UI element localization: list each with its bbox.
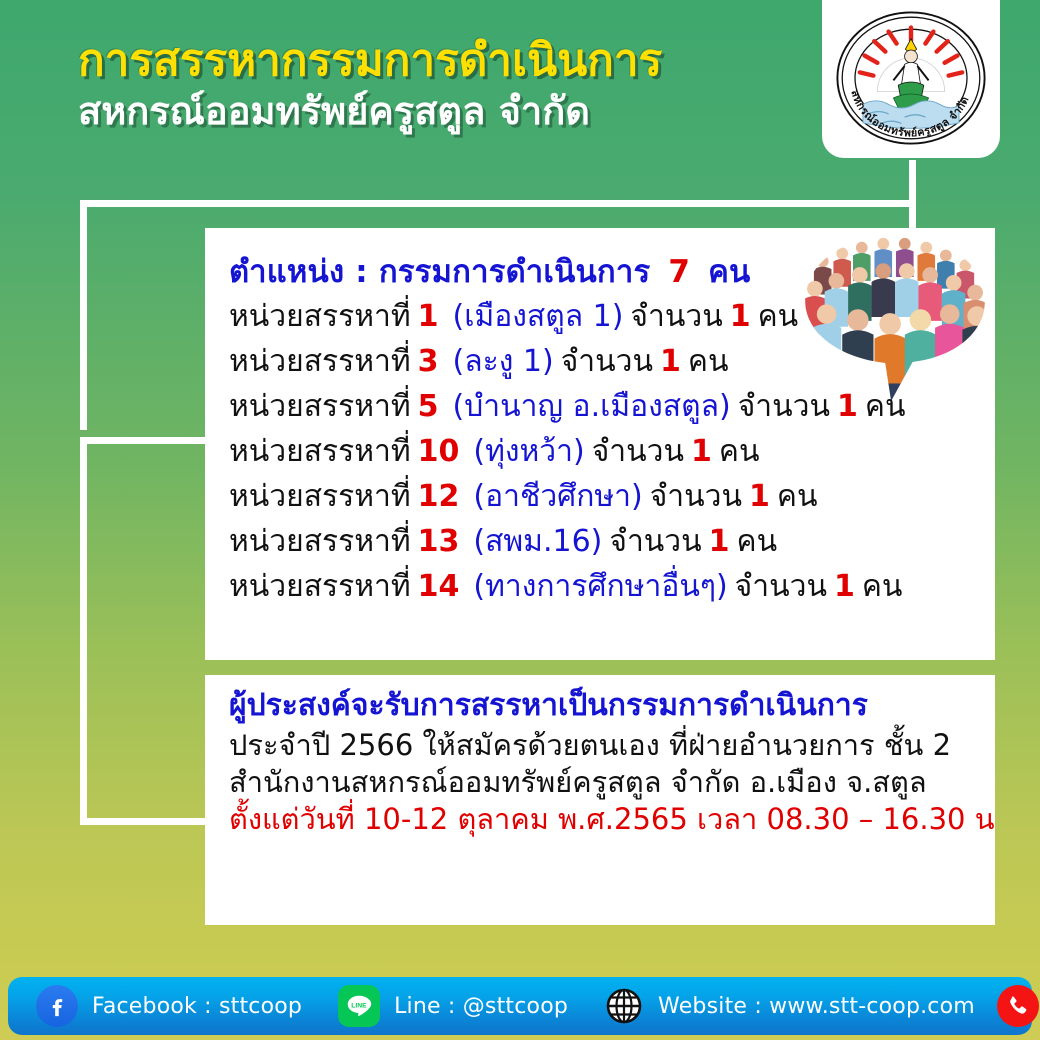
unit-prefix: หน่วยสรรหาที่ <box>229 389 411 424</box>
unit-amount-label: จำนวน <box>650 479 742 514</box>
unit-count: 1 <box>691 434 712 469</box>
application-card: ผู้ประสงค์จะรับการสรรหาเป็นกรรมการดำเนิน… <box>205 675 995 925</box>
positions-heading-label: ตำแหน่ง : กรรมการดำเนินการ <box>229 254 650 290</box>
globe-icon <box>604 986 644 1026</box>
unit-person-label: คน <box>862 569 903 604</box>
unit-row: หน่วยสรรหาที่1(เมืองสตูล 1)จำนวน1คน <box>229 302 985 332</box>
unit-count: 1 <box>660 344 681 379</box>
unit-prefix: หน่วยสรรหาที่ <box>229 479 411 514</box>
unit-person-label: คน <box>777 479 818 514</box>
unit-row: หน่วยสรรหาที่3(ละงู 1)จำนวน1คน <box>229 347 985 377</box>
unit-area: (ละงู 1) <box>453 344 554 379</box>
application-text: ผู้ประสงค์จะรับการสรรหาเป็นกรรมการดำเนิน… <box>229 689 981 838</box>
unit-amount-label: จำนวน <box>592 434 684 469</box>
unit-amount-label: จำนวน <box>735 569 827 604</box>
line-label: Line : @sttcoop <box>394 994 568 1019</box>
positions-card: ตำแหน่ง : กรรมการดำเนินการ 7 คน หน่วยสรร… <box>205 228 995 660</box>
unit-count: 1 <box>730 299 751 334</box>
application-line-2: สำนักงานสหกรณ์ออมทรัพย์ครูสตูล จำกัด อ.เ… <box>229 764 981 801</box>
unit-number: 3 <box>418 344 439 379</box>
page-title: การสรรหากรรมการดำเนินการ <box>78 38 838 85</box>
unit-area: (สพม.16) <box>473 524 602 559</box>
unit-row: หน่วยสรรหาที่10(ทุ่งหว้า)จำนวน1คน <box>229 437 985 467</box>
unit-person-label: คน <box>737 524 778 559</box>
unit-count: 1 <box>837 389 858 424</box>
unit-amount-label: จำนวน <box>561 344 653 379</box>
unit-person-label: คน <box>688 344 729 379</box>
unit-row: หน่วยสรรหาที่13(สพม.16)จำนวน1คน <box>229 527 985 557</box>
footer-website[interactable]: Website : www.stt-coop.com <box>604 977 975 1035</box>
unit-prefix: หน่วยสรรหาที่ <box>229 434 411 469</box>
unit-person-label: คน <box>758 299 799 334</box>
facebook-icon <box>36 985 78 1027</box>
application-heading: ผู้ประสงค์จะรับการสรรหาเป็นกรรมการดำเนิน… <box>229 689 981 723</box>
page-subtitle: สหกรณ์ออมทรัพย์ครูสตูล จำกัด <box>78 91 838 133</box>
contact-footer: Facebook : sttcoop LINE Line : @sttcoop <box>8 977 1032 1035</box>
unit-number: 1 <box>418 299 439 334</box>
footer-tel[interactable]: Tel : 074711933 <box>997 977 1040 1035</box>
unit-area: (ทุ่งหว้า) <box>473 434 584 469</box>
unit-prefix: หน่วยสรรหาที่ <box>229 524 411 559</box>
unit-number: 10 <box>418 434 460 469</box>
application-line-3: ตั้งแต่วันที่ 10-12 ตุลาคม พ.ศ.2565 เวลา… <box>229 801 981 838</box>
positions-heading-count: 7 <box>668 254 690 290</box>
application-line-1: ประจำปี 2566 ให้สมัครด้วยตนเอง ที่ฝ่ายอำ… <box>229 727 981 764</box>
facebook-label: Facebook : sttcoop <box>92 994 302 1019</box>
unit-amount-label: จำนวน <box>738 389 830 424</box>
svg-text:LINE: LINE <box>351 1002 367 1009</box>
poster-canvas: การสรรหากรรมการดำเนินการ สหกรณ์ออมทรัพย์… <box>0 0 1040 1040</box>
unit-number: 14 <box>418 569 460 604</box>
footer-facebook[interactable]: Facebook : sttcoop <box>36 977 302 1035</box>
unit-amount-label: จำนวน <box>609 524 701 559</box>
unit-prefix: หน่วยสรรหาที่ <box>229 569 411 604</box>
unit-rows: หน่วยสรรหาที่1(เมืองสตูล 1)จำนวน1คนหน่วย… <box>229 302 985 602</box>
unit-count: 1 <box>749 479 770 514</box>
unit-count: 1 <box>709 524 730 559</box>
unit-person-label: คน <box>719 434 760 469</box>
cooperative-seal-logo: สหกรณ์ออมทรัพย์ครูสตูล จำกัด <box>831 2 991 154</box>
unit-row: หน่วยสรรหาที่12(อาชีวศึกษา)จำนวน1คน <box>229 482 985 512</box>
unit-area: (ทางการศึกษาอื่นๆ) <box>473 569 727 604</box>
unit-prefix: หน่วยสรรหาที่ <box>229 344 411 379</box>
logo-panel: สหกรณ์ออมทรัพย์ครูสตูล จำกัด <box>822 0 1000 158</box>
phone-icon <box>997 985 1039 1027</box>
title-block: การสรรหากรรมการดำเนินการ สหกรณ์ออมทรัพย์… <box>78 38 838 132</box>
line-icon: LINE <box>338 985 380 1027</box>
unit-area: (อาชีวศึกษา) <box>473 479 642 514</box>
positions-heading-unit: คน <box>708 254 750 290</box>
unit-area: (บำนาญ อ.เมืองสตูล) <box>453 389 731 424</box>
unit-number: 5 <box>418 389 439 424</box>
poster-header: การสรรหากรรมการดำเนินการ สหกรณ์ออมทรัพย์… <box>0 0 1040 175</box>
unit-person-label: คน <box>865 389 906 424</box>
unit-area: (เมืองสตูล 1) <box>453 299 624 334</box>
unit-prefix: หน่วยสรรหาที่ <box>229 299 411 334</box>
unit-number: 13 <box>418 524 460 559</box>
unit-count: 1 <box>834 569 855 604</box>
positions-list: ตำแหน่ง : กรรมการดำเนินการ 7 คน หน่วยสรร… <box>229 246 985 617</box>
positions-heading: ตำแหน่ง : กรรมการดำเนินการ 7 คน <box>229 246 985 296</box>
unit-row: หน่วยสรรหาที่14(ทางการศึกษาอื่นๆ)จำนวน1ค… <box>229 572 985 602</box>
website-label: Website : www.stt-coop.com <box>658 994 975 1019</box>
unit-number: 12 <box>418 479 460 514</box>
unit-amount-label: จำนวน <box>630 299 722 334</box>
footer-line[interactable]: LINE Line : @sttcoop <box>338 977 568 1035</box>
unit-row: หน่วยสรรหาที่5(บำนาญ อ.เมืองสตูล)จำนวน1ค… <box>229 392 985 422</box>
